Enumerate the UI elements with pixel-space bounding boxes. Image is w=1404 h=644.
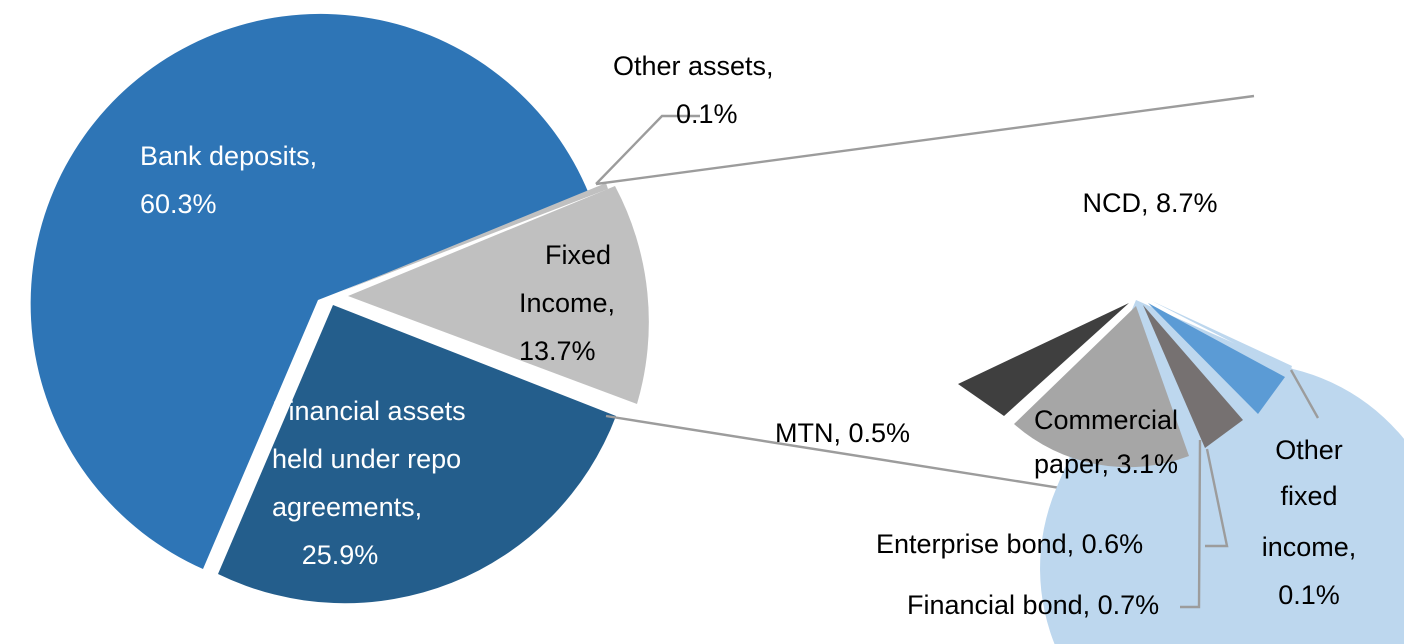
label-bank-deposits-line1: Bank deposits, (140, 141, 317, 171)
label-mtn: MTN, 0.5% (775, 418, 910, 448)
label-other-fixed-line4: 0.1% (1278, 580, 1340, 610)
label-ncd: NCD, 8.7% (1082, 188, 1217, 218)
label-financial-bond: Financial bond, 0.7% (907, 590, 1159, 620)
label-other-assets-line2: 0.1% (676, 99, 738, 129)
label-other-fixed-line3: income, (1262, 532, 1357, 562)
label-enterprise-bond: Enterprise bond, 0.6% (876, 529, 1143, 559)
label-commercial-paper-line2: paper, 3.1% (1034, 449, 1178, 479)
label-repo-line4: 25.9% (302, 540, 379, 570)
label-other-fixed-line2: fixed (1280, 481, 1337, 511)
label-fixed-income-line3: 13.7% (519, 336, 596, 366)
pie-of-pie-chart: Bank deposits, 60.3% Financial assets he… (0, 0, 1404, 644)
label-repo-line1: Financial assets (272, 396, 466, 426)
label-commercial-paper-line1: Commercial (1034, 405, 1178, 435)
label-repo-line3: agreements, (272, 492, 422, 522)
label-fixed-income-line1: Fixed (545, 240, 611, 270)
label-other-assets-line1: Other assets, (613, 51, 774, 81)
label-other-fixed-line1: Other (1275, 435, 1343, 465)
label-repo-line2: held under repo (272, 444, 461, 474)
label-fixed-income-line2: Income, (519, 288, 615, 318)
label-bank-deposits-line2: 60.3% (140, 189, 217, 219)
chart-canvas: Bank deposits, 60.3% Financial assets he… (0, 0, 1404, 644)
